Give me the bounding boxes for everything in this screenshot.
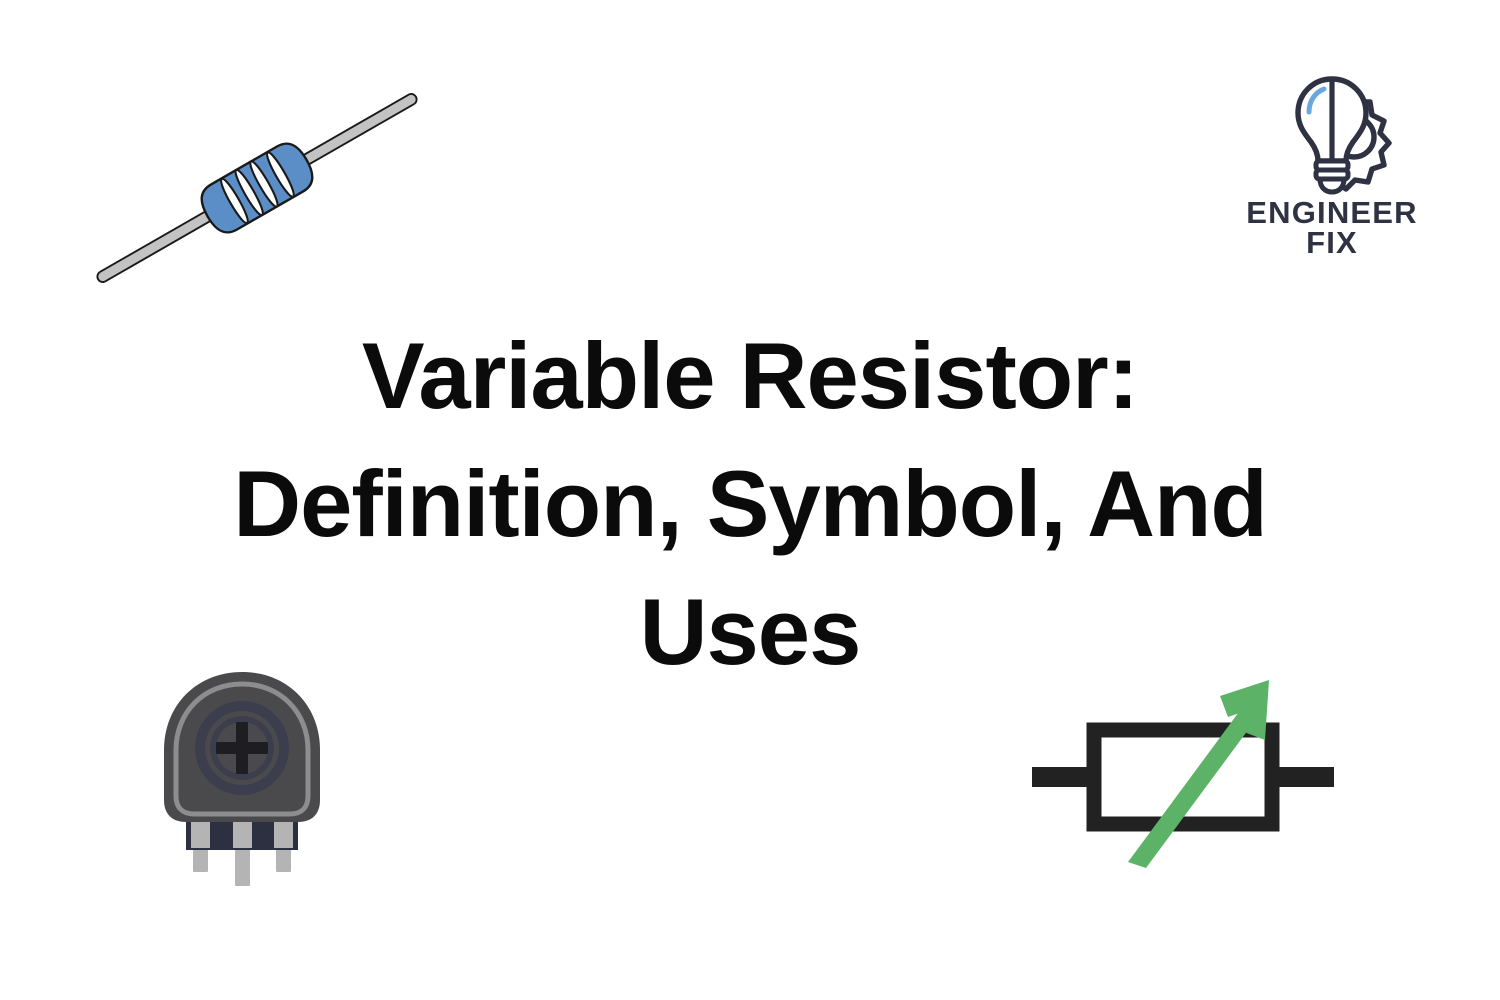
page-title-line-1: Variable Resistor: xyxy=(180,312,1320,440)
axial-resistor-icon xyxy=(82,78,432,303)
variable-arrow-icon xyxy=(1128,680,1269,868)
page-title-line-2: Definition, Symbol, And xyxy=(180,440,1320,568)
potentiometer-icon xyxy=(142,668,342,890)
poster-canvas: ENGINEER FIX Variable Resistor: Definiti… xyxy=(0,0,1500,1000)
brand-logo[interactable]: ENGINEER FIX xyxy=(1228,72,1436,252)
brand-wordmark: ENGINEER FIX xyxy=(1246,198,1418,258)
variable-resistor-symbol-icon xyxy=(1028,672,1358,887)
brand-name-line-2: FIX xyxy=(1246,228,1418,258)
brand-name-line-1: ENGINEER xyxy=(1246,198,1418,228)
lightbulb-gear-icon xyxy=(1266,72,1398,196)
page-title: Variable Resistor: Definition, Symbol, A… xyxy=(180,312,1320,695)
